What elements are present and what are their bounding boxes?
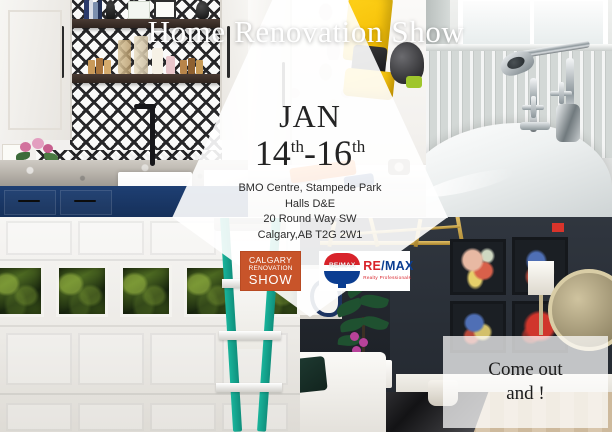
shelf-spice-jar (180, 60, 187, 74)
white-sofa (300, 352, 386, 432)
date-month: JAN (172, 100, 448, 134)
ladder-step (219, 331, 281, 340)
remax-logo[interactable]: RE/MAX RE/MAX Realty Professionals (319, 251, 410, 291)
shelf-spice-jar (96, 58, 103, 74)
calgary-renovation-show-logo[interactable]: CALGARY RENOVATION SHOW (240, 251, 301, 291)
garage-door-panel (6, 403, 72, 431)
faucet-base-plate (520, 122, 550, 130)
table-lamp-post (539, 295, 543, 335)
date-day-start: 14 (255, 133, 291, 173)
drawer-pull (18, 200, 40, 202)
tool-green-accent (406, 76, 422, 88)
remax-tagline: Realty Professionals (363, 275, 413, 280)
shelf-candle (152, 48, 163, 74)
crs-line-1: CALGARY (249, 256, 292, 265)
call-to-action: Come out and ! (443, 336, 608, 428)
cta-line-2: and ! (506, 382, 545, 406)
green-cushion (300, 356, 328, 394)
faucet-valve-body (556, 104, 580, 142)
garage-door-panel (78, 221, 144, 255)
remax-wordmark: RE/MAX Realty Professionals (363, 260, 413, 280)
date-ordinal-end: th (352, 137, 365, 156)
cabinet-drawer (60, 190, 112, 215)
garage-door-window (120, 265, 172, 317)
kitchen-shelf-lower (70, 74, 240, 83)
venue-line-4: Calgary,AB T2G 2W1 (172, 228, 448, 244)
cabinet-drawer (4, 190, 56, 215)
table-lamp-shade (528, 261, 554, 295)
garage-door-window (56, 265, 108, 317)
artwork-floral-1 (450, 239, 506, 295)
date-day-end: 16 (316, 133, 352, 173)
event-date: JAN 14th-16th (172, 100, 448, 173)
venue-line-3: 20 Round Way SW (172, 212, 448, 228)
venue-address: BMO Centre, Stampede Park Halls D&E 20 R… (172, 181, 448, 243)
remax-name: RE/MAX (363, 260, 413, 273)
balloon-basket (338, 283, 346, 288)
garage-door-window (0, 265, 44, 317)
poster-canvas: Home Renovation Show JAN 14th-16th BMO C… (0, 0, 612, 432)
garage-door-panel (78, 333, 144, 385)
remax-balloon-icon: RE/MAX (324, 253, 360, 289)
shelf-spice-jar (104, 60, 111, 74)
venue-line-1: BMO Centre, Stampede Park (172, 181, 448, 197)
faucet-cross-handle (550, 82, 572, 104)
remax-max: MAX (385, 259, 414, 273)
page-title: Home Renovation Show (0, 14, 612, 50)
plant-leaf (359, 291, 389, 311)
shelf-spice-jar (188, 58, 195, 74)
shelf-spice-jar (196, 60, 203, 74)
drawer-pull (74, 200, 96, 202)
orchid-flower (359, 338, 368, 347)
faucet-cross-handle (522, 96, 544, 118)
orchid-flower (350, 332, 359, 341)
sponsor-logos: CALGARY RENOVATION SHOW RE/MAX RE/MAX Re… (240, 251, 410, 293)
kitchen-faucet (150, 104, 155, 166)
garage-door-panel (6, 333, 72, 385)
garage-door-panel (6, 221, 72, 255)
crs-line-3: SHOW (249, 273, 293, 286)
remax-re: RE (363, 259, 381, 273)
garage-door-panel (78, 403, 144, 431)
flower-petal (43, 144, 53, 153)
shelf-spice-jar (88, 60, 95, 74)
ladder-step (216, 383, 282, 392)
date-days: 14th-16th (172, 134, 448, 174)
shelf-pink-jar (166, 56, 175, 74)
balloon-label: RE/MAX (324, 262, 360, 269)
exit-sign (552, 223, 564, 232)
date-ordinal-start: th (291, 137, 304, 156)
venue-line-2: Halls D&E (172, 197, 448, 213)
flower-leaf (16, 152, 30, 160)
cta-line-1: Come out (488, 358, 562, 382)
flower-petal (20, 142, 31, 152)
date-separator: - (304, 133, 316, 173)
